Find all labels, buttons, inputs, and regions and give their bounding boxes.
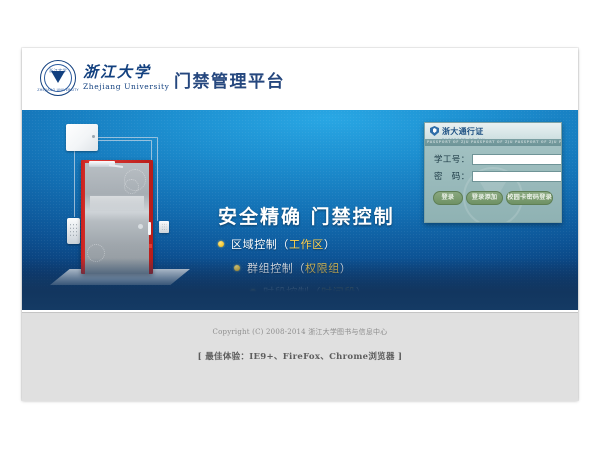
browser-support-note: [ 最佳体验：IE9+、FireFox、Chrome浏览器 ]: [22, 350, 578, 362]
door-controller-box-icon: [66, 124, 98, 151]
university-name-en: Zhejiang University: [83, 82, 169, 91]
shield-icon: [430, 126, 439, 136]
login-panel-marquee: PASSPORT OF ZJU PASSPORT OF ZJU PASSPORT…: [425, 139, 562, 146]
bullet-dot-icon: [218, 241, 224, 247]
list-item: 区域控制（工作区）: [218, 236, 367, 252]
wire-segment: [97, 137, 157, 138]
username-field-row: 学工号：: [434, 153, 552, 165]
card-reader-icon: [159, 221, 169, 233]
login-button[interactable]: 登录: [433, 191, 463, 205]
password-label: 密 码：: [434, 170, 472, 182]
wire-segment: [97, 140, 151, 141]
wire-segment: [157, 137, 158, 221]
door-knob-icon: [138, 224, 143, 229]
door-led-indicator: [149, 244, 152, 248]
hero-banner: 安全精确 门禁控制 区域控制（工作区） 群组控制（权限组） 时段控制（时间段） …: [22, 110, 578, 310]
login-panel: 浙大通行证 PASSPORT OF ZJU PASSPORT OF ZJU PA…: [424, 122, 562, 223]
campus-card-login-button[interactable]: 校园卡密码登录: [506, 191, 553, 205]
university-name-cn: 浙江大学: [83, 65, 169, 81]
door-handle-icon: [148, 222, 151, 235]
login-button-group: 登录 登录添加 校园卡密码登录: [433, 191, 553, 205]
copyright-text: Copyright (C) 2008-2014 浙江大学图书与信息中心: [22, 327, 578, 337]
zju-seal-icon: 浙江大学 ZHEJIANG UNIVERSITY: [40, 60, 76, 96]
page-title: 门禁管理平台: [174, 67, 285, 92]
university-name-block: 浙江大学 Zhejiang University: [83, 65, 169, 91]
footer-content: Copyright (C) 2008-2014 浙江大学图书与信息中心 [ 最佳…: [22, 327, 578, 362]
seal-bottom-text: ZHEJIANG UNIVERSITY: [37, 88, 79, 92]
list-item-label: 区域控制（: [231, 236, 289, 252]
login-panel-header: 浙大通行证 PASSPORT OF ZJU: [425, 123, 561, 140]
banner-title: 安全精确 门禁控制: [218, 202, 395, 229]
username-input[interactable]: [472, 154, 562, 165]
door-closer-icon: [89, 161, 115, 167]
login-panel-title: 浙大通行证: [442, 127, 484, 136]
site-header: 浙江大学 ZHEJIANG UNIVERSITY 浙江大学 Zhejiang U…: [22, 48, 578, 110]
wire-segment: [74, 151, 75, 217]
seal-mark: [51, 71, 65, 83]
username-label: 学工号：: [434, 153, 472, 165]
banner-bottom-fade: [22, 258, 578, 310]
login-add-button[interactable]: 登录添加: [466, 191, 504, 205]
list-item-tail: ）: [324, 236, 336, 252]
list-item-highlight: 工作区: [289, 236, 324, 252]
gear-decor-icon: [124, 179, 139, 194]
door-highlight: [90, 196, 144, 209]
security-door-icon: [81, 160, 153, 274]
password-field-row: 密 码：: [434, 170, 552, 182]
keypad-reader-icon: [67, 218, 80, 244]
logo-area[interactable]: 浙江大学 ZHEJIANG UNIVERSITY 浙江大学 Zhejiang U…: [40, 60, 169, 96]
page-container: 浙江大学 ZHEJIANG UNIVERSITY 浙江大学 Zhejiang U…: [22, 48, 578, 400]
site-footer: Copyright (C) 2008-2014 浙江大学图书与信息中心 [ 最佳…: [22, 312, 578, 401]
password-input[interactable]: [472, 171, 562, 182]
